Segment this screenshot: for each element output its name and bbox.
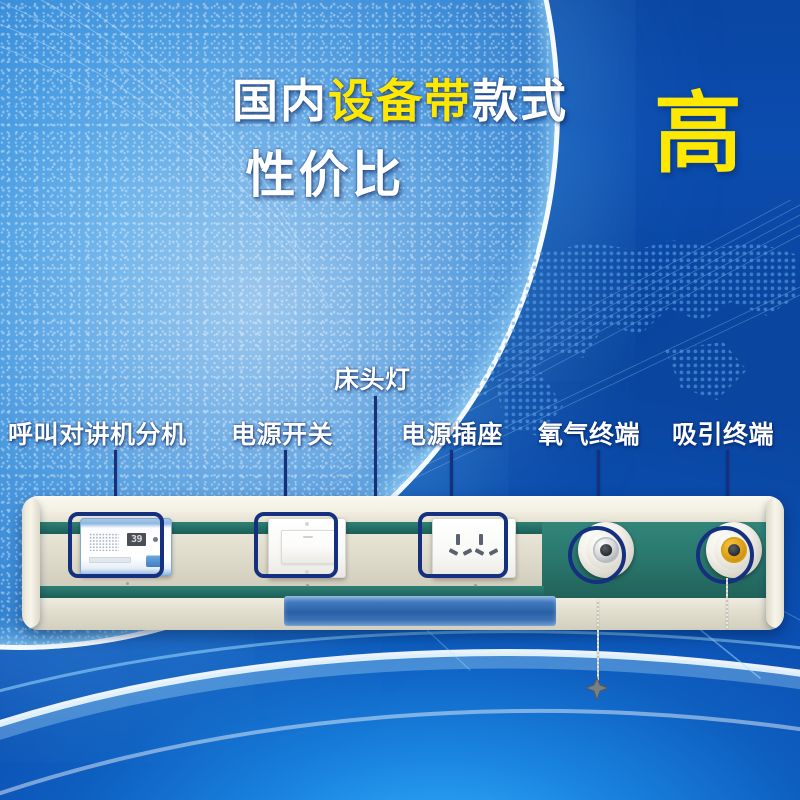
callout-power-switch: 电源开关 — [231, 415, 333, 451]
oxygen-hose-cord — [597, 600, 599, 628]
highlight-box-power-switch — [254, 512, 338, 578]
callout-suction-terminal: 吸引终端 — [672, 415, 774, 451]
panel-screw — [474, 584, 477, 587]
callout-power-socket: 电源插座 — [401, 415, 503, 451]
highlight-circle-suction — [696, 526, 754, 584]
panel-screw — [306, 584, 309, 587]
panel-end-cap-right — [766, 498, 784, 628]
product-promo-image: 国内设备带款式 性价比 高 呼叫对讲机分机 电源开关 床头灯 电源插座 氧气终端… — [0, 0, 800, 800]
pull-cord-handle-icon[interactable] — [584, 676, 610, 702]
callout-bed-lamp: 床头灯 — [334, 360, 411, 396]
panel-end-cap-left — [22, 498, 40, 628]
bed-lamp-diffuser[interactable] — [284, 596, 556, 626]
suction-hose-cord — [726, 578, 728, 630]
highlight-box-power-socket — [418, 512, 508, 578]
highlight-circle-oxygen — [568, 526, 626, 584]
panel-screw — [126, 582, 129, 585]
highlight-box-intercom — [68, 512, 164, 578]
callout-intercom: 呼叫对讲机分机 — [8, 415, 187, 451]
callout-oxygen-terminal: 氧气终端 — [538, 415, 640, 451]
dotted-world-map-decoration — [455, 230, 800, 440]
